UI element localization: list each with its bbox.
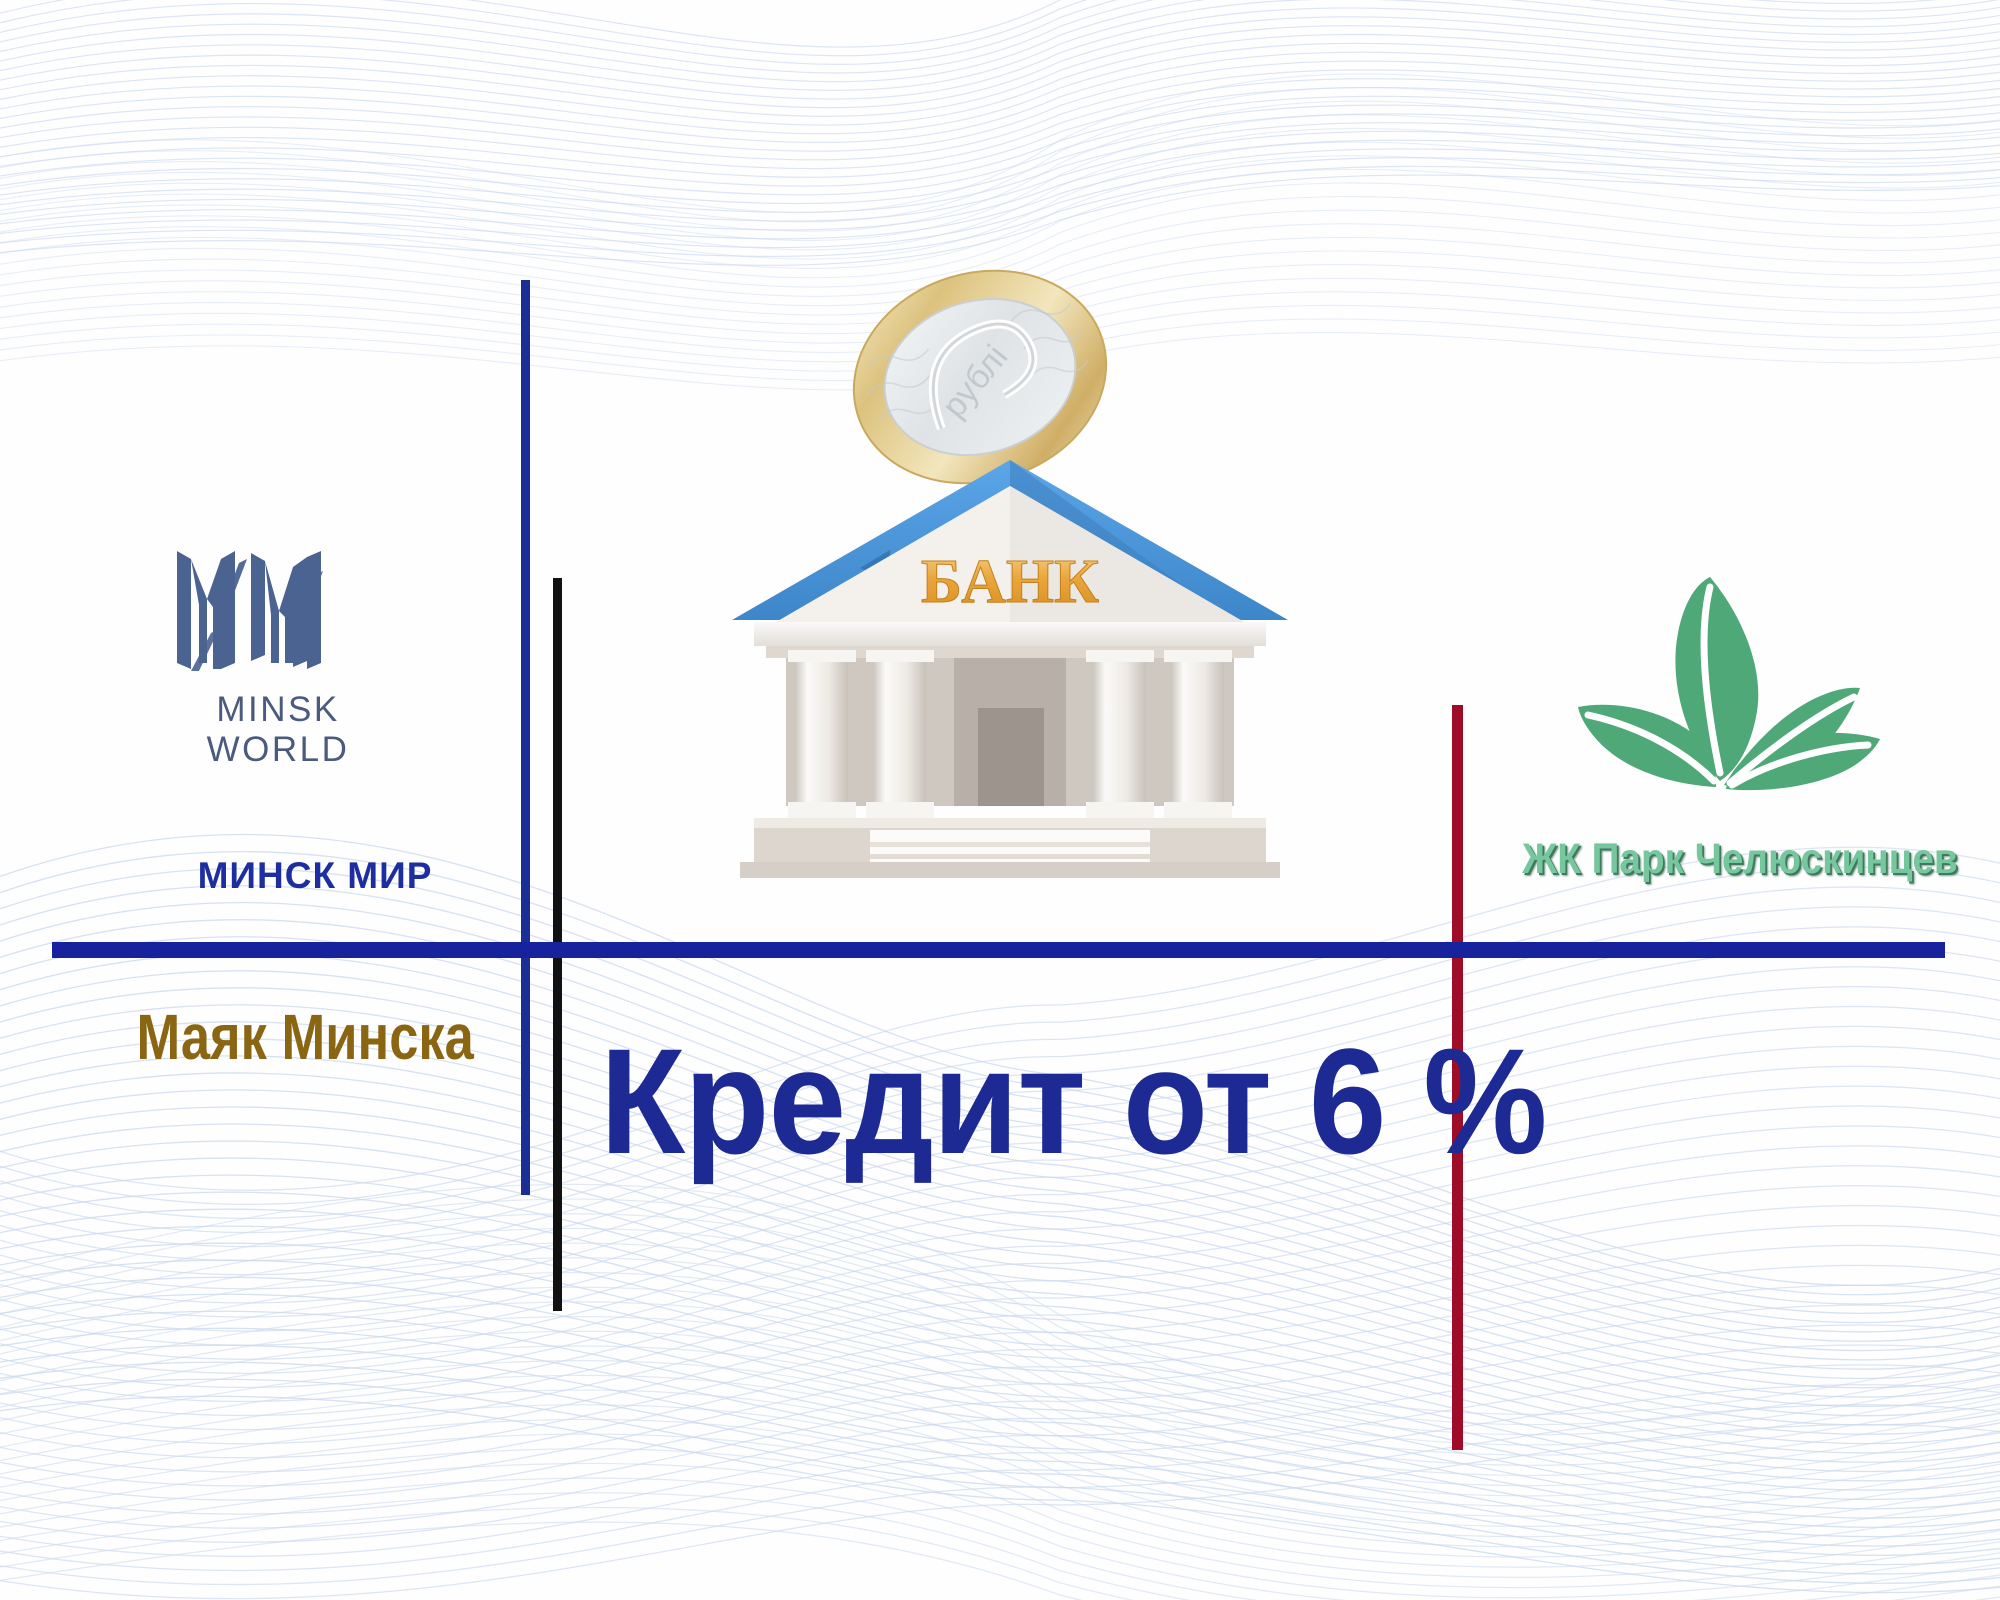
divider-horizontal-blue <box>52 942 1945 958</box>
park-chelyuskintsev-label: ЖК Парк Челюскинцев <box>1506 835 1974 884</box>
headline-credit-rate: Кредит от 6 % <box>600 1015 1400 1188</box>
divider-vertical-blue <box>521 280 530 1195</box>
minsk-world-logo-icon <box>155 545 395 675</box>
minsk-world-wordmark: MINSK WORLD <box>148 690 408 770</box>
bank-sign-text: БАНК <box>921 548 1099 616</box>
bank-building-icon: БАНК <box>710 450 1310 890</box>
mayak-minska-label: Маяк Минска <box>137 1000 424 1074</box>
poster-canvas: MINSK WORLD МИНСК МИР Маяк Минска <box>0 0 2000 1600</box>
minsk-mir-label: МИНСК МИР <box>150 855 480 897</box>
park-leaves-logo-icon <box>1560 575 1890 805</box>
